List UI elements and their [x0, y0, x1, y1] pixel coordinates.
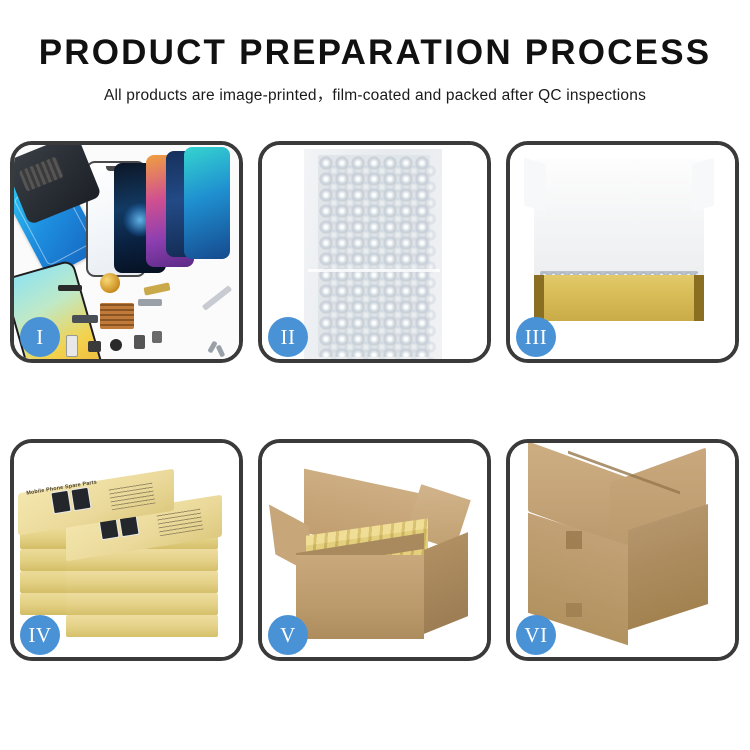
button-icon — [110, 339, 122, 351]
header: PRODUCT PREPARATION PROCESS All products… — [0, 0, 750, 105]
sim-tray-icon — [66, 335, 78, 357]
chip-icon — [152, 331, 162, 343]
step-badge-6: VI — [516, 615, 556, 655]
phone-teal-icon — [184, 147, 230, 259]
box-lid-flap-left — [524, 157, 546, 212]
box-corner-right — [694, 275, 704, 321]
speaker-coil-icon — [100, 273, 120, 293]
step-panel-1: I — [10, 141, 243, 363]
stacked-box — [66, 571, 218, 593]
connector-icon — [72, 315, 98, 323]
antenna-strip-icon — [58, 285, 82, 291]
stacked-box — [66, 593, 218, 615]
step-panel-2: II — [258, 141, 491, 363]
flex-cable-grey-icon — [138, 299, 162, 306]
flex-cable-gold-icon — [143, 282, 170, 295]
step-badge-2: II — [268, 317, 308, 357]
box-screen-image-icon — [70, 487, 91, 512]
box-screen-image-icon — [50, 490, 71, 515]
carton-side-panel — [424, 532, 468, 634]
step-panel-5: V — [258, 439, 491, 661]
step-panel-6: VI — [506, 439, 739, 661]
tweezers-icon — [202, 285, 232, 311]
step-panel-4: Mobile Phone Spare Parts Mobile Phone Sp… — [10, 439, 243, 661]
step-badge-4: IV — [20, 615, 60, 655]
carton-tape-upper — [566, 531, 582, 549]
box-lid-icon — [534, 159, 704, 277]
page-subtitle: All products are image-printed，film-coat… — [0, 83, 750, 105]
step-badge-5: V — [268, 615, 308, 655]
camera-module-icon — [88, 341, 101, 352]
step-panel-3: III — [506, 141, 739, 363]
vibrator-icon — [134, 335, 145, 349]
wrap-seam — [308, 269, 440, 272]
screw-icon — [216, 345, 226, 358]
carton-front-panel — [296, 555, 424, 639]
process-steps-grid: I II — [10, 141, 740, 675]
page-title: PRODUCT PREPARATION PROCESS — [0, 33, 750, 73]
bubble-grid-overlay-icon — [326, 163, 438, 359]
step-badge-1: I — [20, 317, 60, 357]
stacked-box — [66, 615, 218, 637]
box-lid-flap-right — [692, 157, 714, 212]
box-body-icon — [534, 275, 704, 321]
product-preparation-infographic: PRODUCT PREPARATION PROCESS All products… — [0, 0, 750, 750]
copper-mesh-icon — [100, 303, 134, 329]
carton-tape-lower — [566, 603, 582, 617]
box-corner-left — [534, 275, 544, 321]
step-badge-3: III — [516, 317, 556, 357]
